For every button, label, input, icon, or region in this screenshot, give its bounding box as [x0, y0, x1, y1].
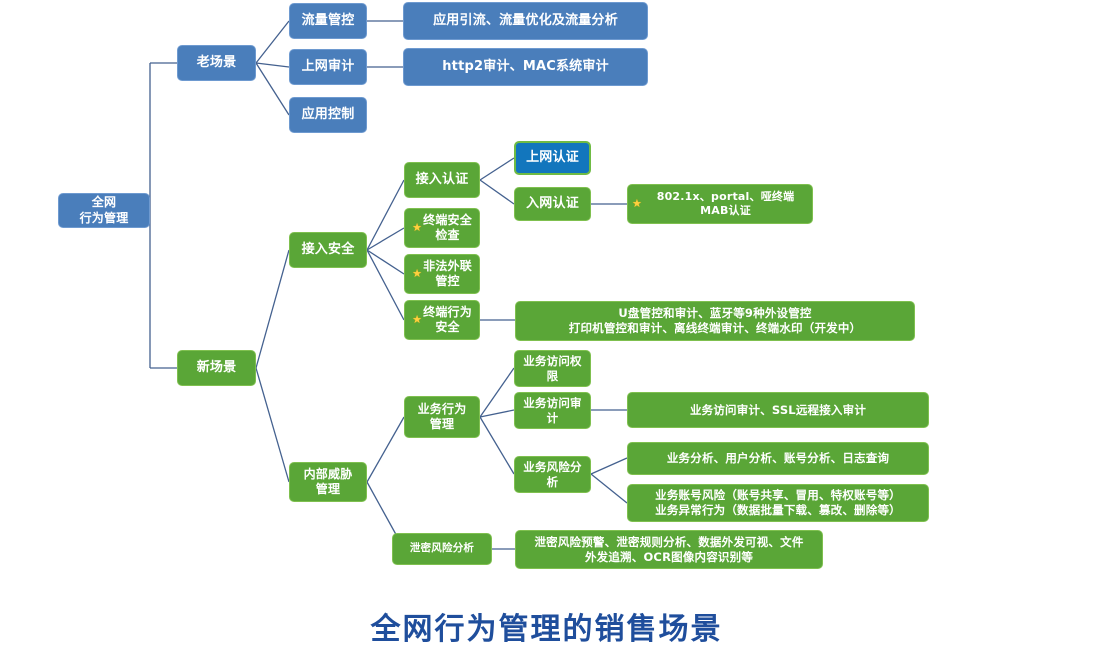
- node-business-risk-analysis[interactable]: 业务风险分 析: [514, 456, 591, 493]
- node-access-security[interactable]: 接入安全: [289, 232, 367, 268]
- node-business-access-audit[interactable]: 业务访问审 计: [514, 392, 591, 429]
- node-business-risk-detail-1[interactable]: 业务分析、用户分析、账号分析、日志查询: [627, 442, 929, 475]
- node-internal-threat[interactable]: 内部威胁 管理: [289, 462, 367, 502]
- node-leak-risk-analysis[interactable]: 泄密风险分析: [392, 533, 492, 565]
- node-network-auth[interactable]: 入网认证: [514, 187, 591, 221]
- node-endpoint-security-check[interactable]: 终端安全 检查: [404, 208, 480, 248]
- mindmap-canvas: 全网 行为管理 老场景 新场景 流量管控 应用引流、流量优化及流量分析 上网审计…: [0, 0, 1093, 662]
- node-root[interactable]: 全网 行为管理: [58, 193, 150, 228]
- node-traffic-control[interactable]: 流量管控: [289, 3, 367, 39]
- node-business-access-permission[interactable]: 业务访问权 限: [514, 350, 591, 387]
- node-new-scene[interactable]: 新场景: [177, 350, 256, 386]
- node-business-access-audit-detail[interactable]: 业务访问审计、SSL远程接入审计: [627, 392, 929, 428]
- node-endpoint-behavior-security[interactable]: 终端行为 安全: [404, 300, 480, 340]
- node-business-behavior[interactable]: 业务行为 管理: [404, 396, 480, 438]
- node-web-audit-detail[interactable]: http2审计、MAC系统审计: [403, 48, 648, 86]
- node-illegal-outreach-control[interactable]: 非法外联 管控: [404, 254, 480, 294]
- node-web-audit[interactable]: 上网审计: [289, 49, 367, 85]
- node-old-scene[interactable]: 老场景: [177, 45, 256, 81]
- node-app-control[interactable]: 应用控制: [289, 97, 367, 133]
- node-endpoint-behavior-detail[interactable]: U盘管控和审计、蓝牙等9种外设管控 打印机管控和审计、离线终端审计、终端水印（开…: [515, 301, 915, 341]
- node-internet-auth[interactable]: 上网认证: [514, 141, 591, 175]
- node-network-auth-detail[interactable]: 802.1x、portal、哑终端MAB认证: [627, 184, 813, 224]
- page-title: 全网行为管理的销售场景: [0, 604, 1093, 648]
- node-traffic-control-detail[interactable]: 应用引流、流量优化及流量分析: [403, 2, 648, 40]
- node-leak-risk-detail[interactable]: 泄密风险预警、泄密规则分析、数据外发可视、文件 外发追溯、OCR图像内容识别等: [515, 530, 823, 569]
- node-business-risk-detail-2[interactable]: 业务账号风险（账号共享、冒用、特权账号等） 业务异常行为（数据批量下载、篡改、删…: [627, 484, 929, 522]
- node-access-auth[interactable]: 接入认证: [404, 162, 480, 198]
